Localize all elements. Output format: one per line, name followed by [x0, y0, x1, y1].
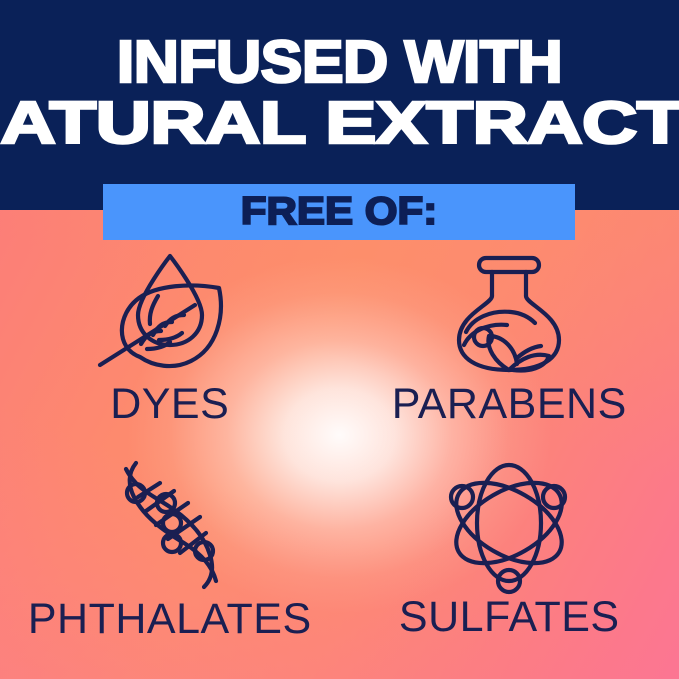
- free-of-item-dyes: DYES: [0, 248, 340, 453]
- free-of-banner: FREE OF:: [103, 184, 575, 240]
- headline-line-2: NATURAL EXTRACTS: [0, 95, 679, 152]
- headline-line-1: INFUSED WITH: [0, 34, 679, 91]
- atom-icon: [438, 457, 580, 593]
- headline: INFUSED WITH NATURAL EXTRACTS: [0, 34, 679, 151]
- free-of-item-phthalates: PHTHALATES: [0, 453, 340, 658]
- free-of-item-label: PARABENS: [392, 380, 627, 429]
- free-of-item-sulfates: SULFATES: [340, 453, 679, 658]
- free-of-banner-label: FREE OF:: [241, 190, 438, 234]
- dna-helix-icon: [100, 455, 240, 595]
- free-of-item-parabens: PARABENS: [340, 248, 679, 453]
- free-of-item-label: PHTHALATES: [28, 595, 312, 644]
- free-of-items-grid: DYES: [0, 248, 679, 658]
- free-of-item-label: SULFATES: [399, 593, 620, 642]
- free-of-item-label: DYES: [110, 380, 229, 429]
- flask-leaf-icon: [439, 252, 579, 374]
- droplet-leaf-icon: [95, 252, 245, 374]
- product-claims-poster: INFUSED WITH NATURAL EXTRACTS FREE OF:: [0, 0, 679, 679]
